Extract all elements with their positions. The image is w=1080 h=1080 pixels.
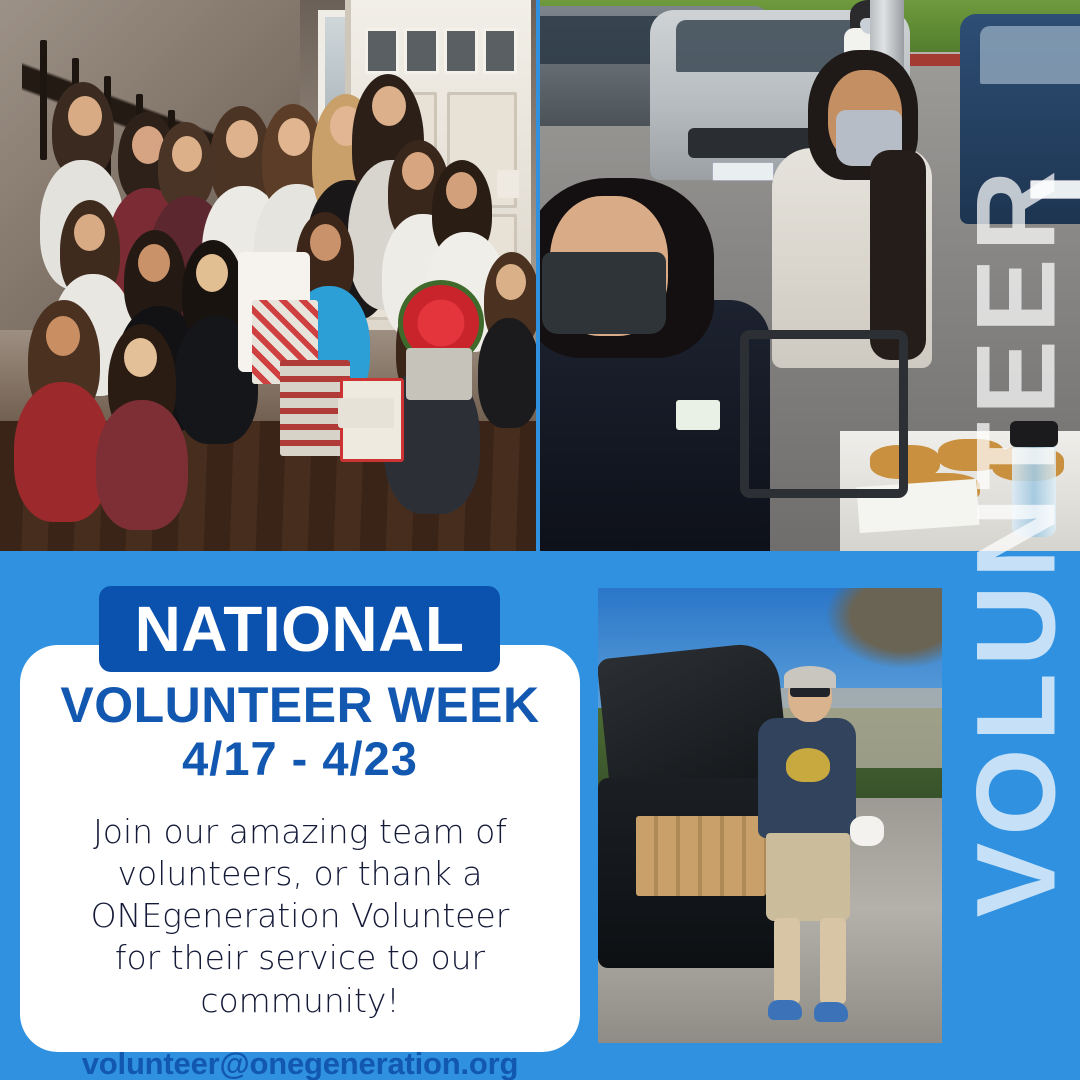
body-line-3: ONEgeneration Volunteer — [36, 895, 564, 937]
card-body-copy: Join our amazing team of volunteers, or … — [36, 811, 564, 1022]
info-card: VOLUNTEER WEEK 4/17 - 4/23 Join our amaz… — [20, 645, 580, 1052]
card-date-range: 4/17 - 4/23 — [36, 733, 564, 785]
contact-email[interactable]: volunteer@onegeneration.org — [36, 1046, 564, 1080]
photo-senior-volunteer-with-grocery-bags — [598, 588, 942, 1043]
card-heading-volunteer-week: VOLUNTEER WEEK — [36, 679, 564, 731]
national-badge-label: NATIONAL — [135, 597, 465, 661]
photo-group-of-teen-volunteers — [0, 0, 536, 551]
body-line-1: Join our amazing team of — [36, 811, 564, 853]
photo-parking-lot-volunteers — [540, 0, 1080, 551]
national-badge: NATIONAL — [99, 586, 500, 672]
poster-canvas: VOLUNTEER VOLUNTEER WEEK 4/17 - 4/23 Joi… — [0, 0, 1080, 1080]
body-line-4: for their service to our community! — [36, 937, 564, 1021]
body-line-2: volunteers, or thank a — [36, 853, 564, 895]
